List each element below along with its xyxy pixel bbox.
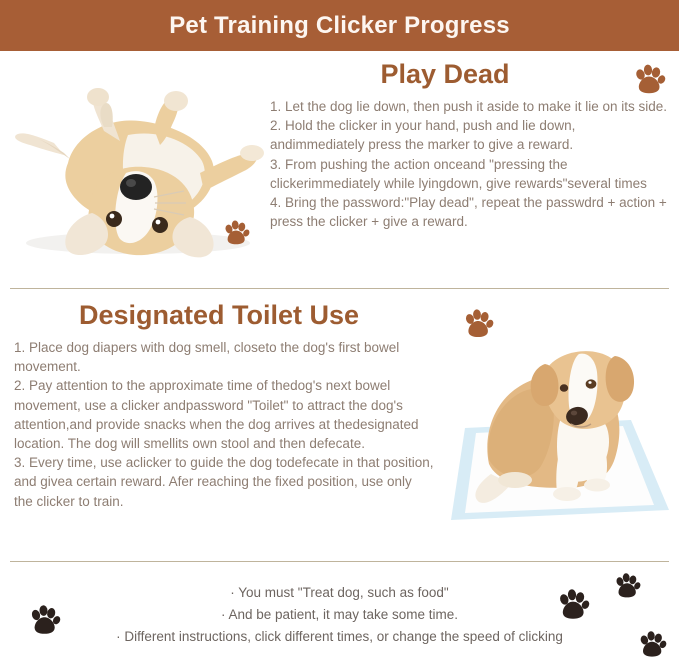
section-divider-top <box>10 288 669 289</box>
infographic-page: Pet Training Clicker Progress <box>0 0 679 659</box>
paw-print-icon <box>556 588 590 621</box>
toilet-use-step-2: 2. Pay attention to the approximate time… <box>14 376 434 453</box>
play-dead-steps: 1. Let the dog lie down, then push it as… <box>270 97 672 231</box>
header-bar: Pet Training Clicker Progress <box>0 0 679 51</box>
paw-print-glyph <box>556 588 590 621</box>
paw-print-icon <box>222 219 250 246</box>
play-dead-heading-row: Play Dead <box>270 57 672 93</box>
paw-print-icon <box>613 572 641 599</box>
paw-print-glyph <box>28 604 61 636</box>
footer-note-3: · Different instructions, click differen… <box>0 626 679 648</box>
toilet-use-step-1: 1. Place dog diapers with dog smell, clo… <box>14 338 434 376</box>
play-dead-text-block: Play Dead 1. Let the dog lie down, then … <box>270 57 672 231</box>
paw-print-icon <box>28 604 61 636</box>
dog-on-pad-illustration <box>445 324 673 546</box>
paw-print-glyph <box>222 219 250 246</box>
toilet-use-text-block: Designated Toilet Use 1. Place dog diape… <box>14 298 434 511</box>
play-dead-step-4: 4. Bring the password:"Play dead", repea… <box>270 193 672 231</box>
toilet-use-step-3: 3. Every time, use aclicker to guide the… <box>14 453 434 511</box>
paw-print-glyph <box>632 63 666 95</box>
paw-print-icon <box>462 308 494 339</box>
play-dead-step-2: 2. Hold the clicker in your hand, push a… <box>270 116 672 154</box>
section-play-dead: Play Dead 1. Let the dog lie down, then … <box>0 51 679 283</box>
play-dead-step-3: 3. From pushing the action onceand "pres… <box>270 155 672 193</box>
section-divider-bottom <box>10 561 669 562</box>
paw-print-glyph <box>637 630 667 658</box>
section-heading-toilet-use: Designated Toilet Use <box>14 298 434 332</box>
play-dead-step-1: 1. Let the dog lie down, then push it as… <box>270 97 672 116</box>
paw-print-icon <box>637 630 667 658</box>
paw-print-glyph <box>613 572 641 599</box>
section-designated-toilet-use: Designated Toilet Use 1. Place dog diape… <box>0 294 679 556</box>
paw-print-icon <box>632 63 666 95</box>
toilet-use-steps: 1. Place dog diapers with dog smell, clo… <box>14 338 434 511</box>
dog-photo-toilet-use <box>445 324 673 546</box>
paw-print-glyph <box>462 308 494 339</box>
page-title: Pet Training Clicker Progress <box>169 12 510 40</box>
section-heading-play-dead: Play Dead <box>270 57 672 91</box>
